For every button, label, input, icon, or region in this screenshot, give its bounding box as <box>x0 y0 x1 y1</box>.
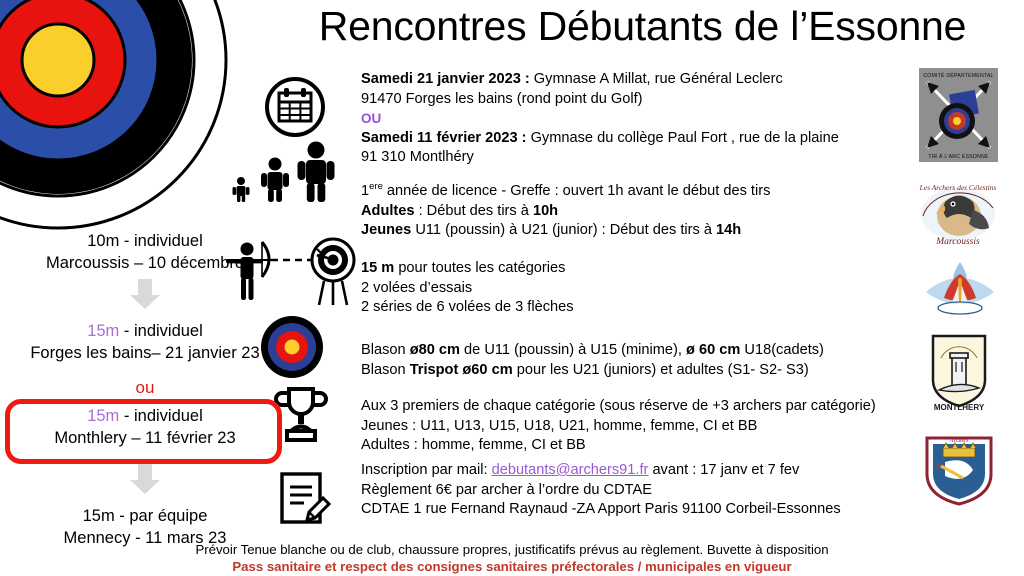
blason-line1: Blason ø80 cm de U11 (poussin) à U15 (mi… <box>361 341 824 361</box>
logo-mennecy-archers: Archers <box>919 432 999 506</box>
step2-distance: 15m <box>87 322 119 340</box>
date1-venue: Gymnase A Millat, rue Général Leclerc <box>530 71 783 87</box>
inscription-deadline: avant : 17 janv et 7 fev <box>648 462 799 478</box>
detail-recompenses-block: Aux 3 premiers de chaque catégorie (sous… <box>361 397 876 456</box>
date1-label: Samedi 21 janvier 2023 : <box>361 71 530 87</box>
distance-line3: 2 séries de 6 volées de 3 flèches <box>361 298 574 318</box>
logo-cdtae-top-text: COMITÉ DÉPARTEMENTAL <box>923 72 993 79</box>
step3-type: - individuel <box>119 407 202 425</box>
people-ages-icon <box>227 140 335 202</box>
schedule-or-separator: ou <box>0 377 290 399</box>
logo-forges-les-bains-club <box>920 258 1000 320</box>
date1-line1: Samedi 21 janvier 2023 : Gymnase A Milla… <box>361 70 839 90</box>
recompenses-line3: Adultes : homme, femme, CI et BB <box>361 436 876 456</box>
step3-distance: 15m <box>87 407 119 425</box>
blason1-mid: de U11 (poussin) à U15 (minime), <box>460 342 686 358</box>
poster-canvas: Rencontres Débutants de l’Essonne <box>0 0 1024 576</box>
blason2-size: Trispot ø60 cm <box>410 362 513 378</box>
blason2-prefix: Blason <box>361 362 410 378</box>
step1-location: Marcoussis – 10 décembre <box>0 252 290 274</box>
adults-time: 10h <box>533 203 558 219</box>
greffe-line1: 1ere année de licence - Greffe : ouvert … <box>361 182 770 202</box>
logo-marcoussis-arc-text: Les Archers des Célestins <box>919 183 997 192</box>
distance-value: 15 m <box>361 260 394 276</box>
schedule-step-1: 10m - individuel Marcoussis – 10 décembr… <box>0 230 290 274</box>
inscription-line3: CDTAE 1 rue Fernand Raynaud -ZA Apport P… <box>361 500 841 520</box>
footer-note: Prévoir Tenue blanche ou de club, chauss… <box>0 541 1024 558</box>
date2-venue: Gymnase du collège Paul Fort , rue de la… <box>527 130 839 146</box>
arrow-down-icon-2 <box>128 462 162 496</box>
adults-text: : Début des tirs à <box>415 203 533 219</box>
logo-archers-celestins-marcoussis: Les Archers des Célestins Marcoussis <box>903 182 1013 254</box>
schedule-step-3: 15m - individuel Monthlery – 11 février … <box>0 405 290 449</box>
logo-montlhery-name: MONTLHERY <box>934 403 985 412</box>
logo-cdtae-bottom-text: TIR À L'ARC ESSONNE <box>928 153 988 160</box>
greffe-line1-text: année de licence - Greffe : ouvert 1h av… <box>383 183 771 199</box>
greffe-youth-line: Jeunes U11 (poussin) à U21 (junior) : Dé… <box>361 221 770 241</box>
adults-label: Adultes <box>361 203 415 219</box>
logo-cdtae-essonne: COMITÉ DÉPARTEMENTAL TIR À L'ARC ESSONNE <box>911 66 1006 166</box>
blason1-size: ø80 cm <box>410 342 460 358</box>
date1-line2: 91470 Forges les bains (rond point du Go… <box>361 90 839 110</box>
blason2-end: pour les U21 (juniors) et adultes (S1- S… <box>513 362 809 378</box>
step4-title: 15m - par équipe <box>0 505 290 527</box>
logo-mennecy-name: Archers <box>950 438 970 444</box>
detail-blasons-block: Blason ø80 cm de U11 (poussin) à U15 (mi… <box>361 341 824 380</box>
date2-label: Samedi 11 février 2023 : <box>361 130 527 146</box>
recompenses-line1: Aux 3 premiers de chaque catégorie (sous… <box>361 397 876 417</box>
detail-greffe-block: 1ere année de licence - Greffe : ouvert … <box>361 182 770 241</box>
inscription-line2: Règlement 6€ par archer à l’ordre du CDT… <box>361 481 841 501</box>
step2-title: 15m - individuel <box>0 320 290 342</box>
dates-or-separator: OU <box>361 109 839 129</box>
logo-marcoussis-name: Marcoussis <box>935 237 980 247</box>
date2-line1: Samedi 11 février 2023 : Gymnase du coll… <box>361 129 839 149</box>
date2-line2: 91 310 Montlhéry <box>361 148 839 168</box>
blason1-end: U18(cadets) <box>740 342 824 358</box>
footer-health-notice: Pass sanitaire et respect des consignes … <box>0 558 1024 575</box>
step2-type: - individuel <box>119 322 202 340</box>
youth-time: 14h <box>716 222 741 238</box>
youth-label: Jeunes <box>361 222 411 238</box>
youth-text: U11 (poussin) à U21 (junior) : Début des… <box>411 222 716 238</box>
registration-email-link[interactable]: debutants@archers91.fr <box>492 462 649 478</box>
corner-archery-target-graphic <box>0 0 228 230</box>
calendar-icon <box>264 76 326 138</box>
distance-line2: 2 volées d’essais <box>361 279 574 299</box>
recompenses-line2: Jeunes : U11, U13, U15, U18, U21, homme,… <box>361 417 876 437</box>
page-title: Rencontres Débutants de l’Essonne <box>265 2 1020 50</box>
detail-dates-block: Samedi 21 janvier 2023 : Gymnase A Milla… <box>361 70 839 168</box>
distance-line1: 15 m pour toutes les catégories <box>361 259 574 279</box>
step3-title: 15m - individuel <box>0 405 290 427</box>
arrow-down-icon-1 <box>128 277 162 311</box>
distance-text: pour toutes les catégories <box>394 260 565 276</box>
inscription-prefix: Inscription par mail: <box>361 462 492 478</box>
schedule-step-2: 15m - individuel Forges les bains– 21 ja… <box>0 320 290 364</box>
detail-inscription-block: Inscription par mail: debutants@archers9… <box>361 461 841 520</box>
greffe-ordinal-suffix: ere <box>369 181 383 192</box>
icon-column <box>222 60 362 540</box>
step2-location: Forges les bains– 21 janvier 23 <box>0 342 290 364</box>
inscription-line1: Inscription par mail: debutants@archers9… <box>361 461 841 481</box>
greffe-adults-line: Adultes : Début des tirs à 10h <box>361 202 770 222</box>
detail-distance-block: 15 m pour toutes les catégories 2 volées… <box>361 259 574 318</box>
step3-location: Monthlery – 11 février 23 <box>0 427 290 449</box>
blason1-size2: ø 60 cm <box>686 342 740 358</box>
greffe-ordinal: 1 <box>361 183 369 199</box>
blason1-prefix: Blason <box>361 342 410 358</box>
blason-line2: Blason Trispot ø60 cm pour les U21 (juni… <box>361 361 824 381</box>
step1-title: 10m - individuel <box>0 230 290 252</box>
logo-montlhery-club: MONTLHERY <box>921 332 997 412</box>
